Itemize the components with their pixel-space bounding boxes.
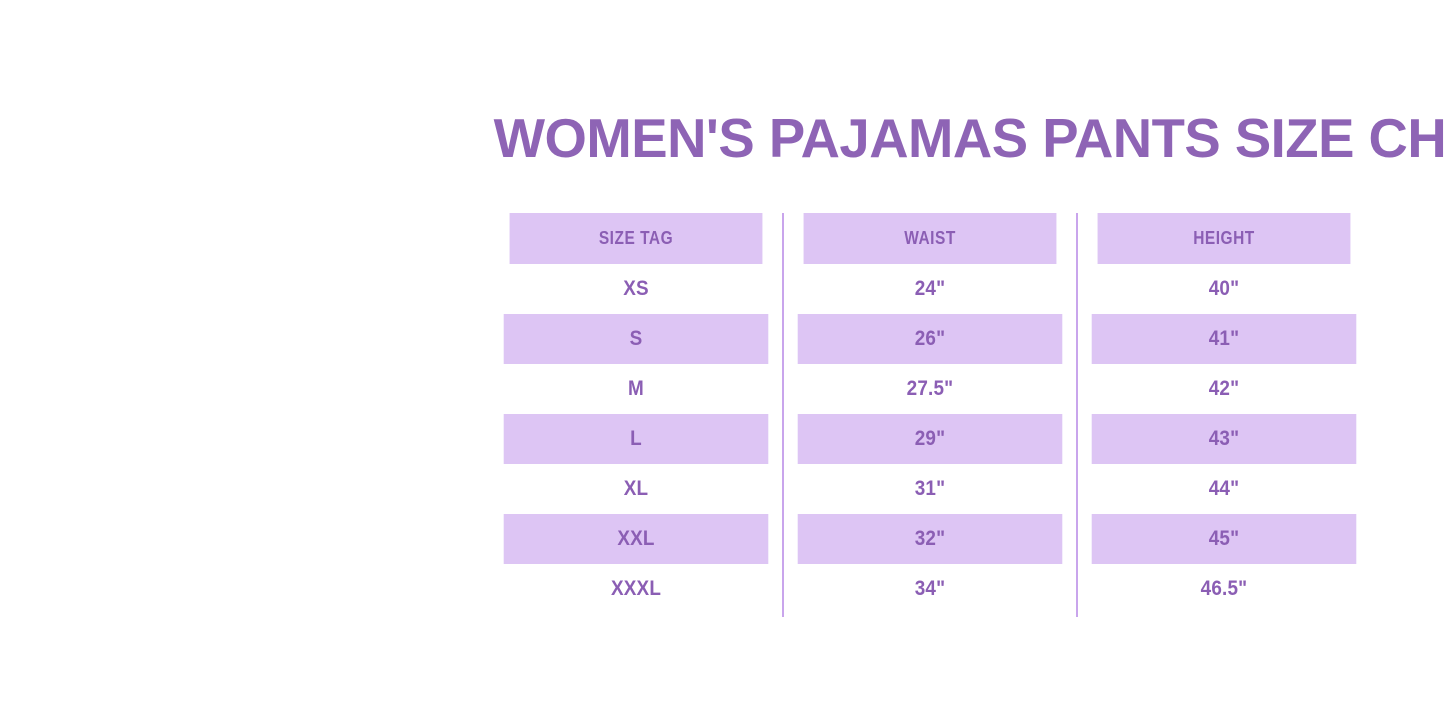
column-header-height: HEIGHT <box>1098 213 1351 264</box>
page-title: WOMEN'S PAJAMAS PANTS SIZE CHART <box>494 103 1415 173</box>
column-divider-line-1 <box>782 213 784 617</box>
cell-waist: 26" <box>798 314 1063 364</box>
cell-waist: 34" <box>798 564 1063 614</box>
table-row: XL 31" 44" <box>489 464 1371 514</box>
cell-height: 40" <box>1092 264 1357 314</box>
cell-height: 43" <box>1092 414 1357 464</box>
cell-waist: 32" <box>798 514 1063 564</box>
table-row: M 27.5" 42" <box>489 364 1371 414</box>
cell-waist: 27.5" <box>798 364 1063 414</box>
table-body: XS 24" 40" S 26" 41" M 27.5" 42" L 29" <box>489 264 1371 614</box>
cell-size-tag: L <box>504 414 769 464</box>
size-chart-page: WOMEN'S PAJAMAS PANTS SIZE CHART SIZE TA… <box>0 0 1445 723</box>
column-header-size-tag: SIZE TAG <box>510 213 763 264</box>
cell-size-tag: M <box>504 364 769 414</box>
table-row: S 26" 41" <box>489 314 1371 364</box>
cell-size-tag: XL <box>504 464 769 514</box>
table-row: L 29" 43" <box>489 414 1371 464</box>
cell-waist: 31" <box>798 464 1063 514</box>
cell-height: 46.5" <box>1092 564 1357 614</box>
table-header-row: SIZE TAG WAIST HEIGHT <box>489 213 1371 264</box>
cell-size-tag: XXXL <box>504 564 769 614</box>
cell-size-tag: XXL <box>504 514 769 564</box>
cell-height: 42" <box>1092 364 1357 414</box>
size-chart-table-container: SIZE TAG WAIST HEIGHT XS 24" 40" S 26" 4… <box>489 213 1371 617</box>
column-divider-line-2 <box>1076 213 1078 617</box>
column-header-waist: WAIST <box>804 213 1057 264</box>
table-header: SIZE TAG WAIST HEIGHT <box>489 213 1371 264</box>
cell-size-tag: XS <box>504 264 769 314</box>
table-row: XS 24" 40" <box>489 264 1371 314</box>
cell-size-tag: S <box>504 314 769 364</box>
cell-height: 44" <box>1092 464 1357 514</box>
cell-height: 41" <box>1092 314 1357 364</box>
table-row: XXL 32" 45" <box>489 514 1371 564</box>
cell-waist: 29" <box>798 414 1063 464</box>
cell-height: 45" <box>1092 514 1357 564</box>
size-chart-table: SIZE TAG WAIST HEIGHT XS 24" 40" S 26" 4… <box>489 213 1371 614</box>
table-row: XXXL 34" 46.5" <box>489 564 1371 614</box>
cell-waist: 24" <box>798 264 1063 314</box>
